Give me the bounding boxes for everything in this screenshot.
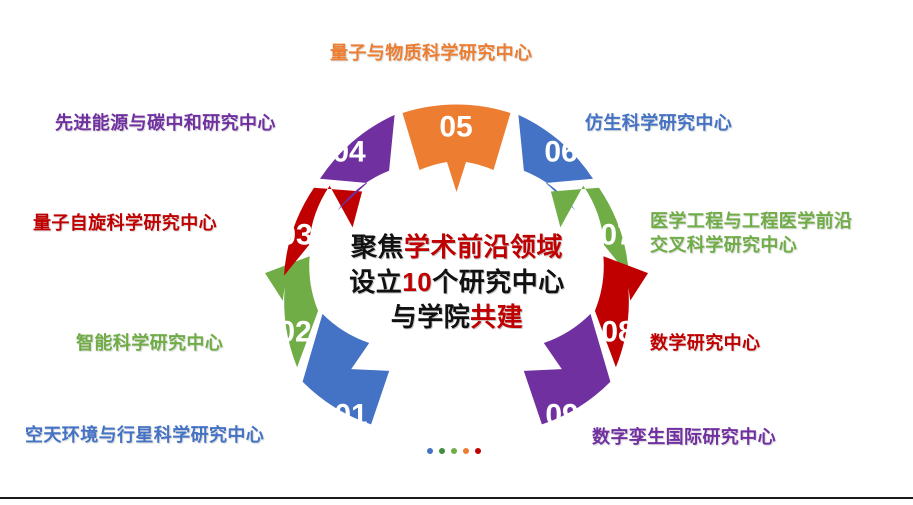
decorative-dot-3 xyxy=(451,448,457,454)
ring-segment-05[interactable]: 05 xyxy=(403,105,511,192)
center-statement-line-2: 设立10个研究中心 xyxy=(302,265,612,300)
center-line3-part-a: 与学院 xyxy=(391,302,471,332)
center-line2-part-c: 个研究中心 xyxy=(432,267,565,297)
label-center-06[interactable]: 仿生科学研究中心 xyxy=(585,112,732,136)
center-line2-part-a: 设立 xyxy=(349,267,402,297)
label-center-02[interactable]: 智能科学研究中心 xyxy=(76,332,223,356)
decorative-dot-5 xyxy=(475,448,481,454)
center-statement: 聚焦学术前沿领域 设立10个研究中心 与学院共建 xyxy=(302,230,612,334)
center-statement-line-3: 与学院共建 xyxy=(302,300,612,335)
bottom-divider xyxy=(0,497,913,499)
decorative-dot-2 xyxy=(439,448,445,454)
ring-segment-04-number: 04 xyxy=(332,136,366,169)
label-center-03[interactable]: 量子自旋科学研究中心 xyxy=(33,212,217,236)
center-line2-count: 10 xyxy=(402,267,432,297)
center-statement-line-1: 聚焦学术前沿领域 xyxy=(302,230,612,265)
decorative-dot-4 xyxy=(463,448,469,454)
ring-segment-01-number: 01 xyxy=(334,399,367,432)
label-center-07-line-2: 交叉科学研究中心 xyxy=(650,234,852,258)
label-center-04[interactable]: 先进能源与碳中和研究中心 xyxy=(55,112,276,136)
ring-segment-06-number: 06 xyxy=(544,136,577,169)
center-line3-part-b: 共建 xyxy=(470,302,523,332)
center-line1-part-b: 学术前沿领域 xyxy=(404,232,563,262)
label-center-07[interactable]: 医学工程与工程医学前沿 交叉科学研究中心 xyxy=(650,210,852,258)
label-center-09[interactable]: 数字孪生国际研究中心 xyxy=(592,426,776,450)
label-center-05[interactable]: 量子与物质科学研究中心 xyxy=(330,42,532,66)
slide-canvas: 01 02 03 04 05 06 07 xyxy=(0,0,913,505)
label-center-08[interactable]: 数学研究中心 xyxy=(650,332,760,356)
label-center-01[interactable]: 空天环境与行星科学研究中心 xyxy=(25,424,264,448)
decorative-dots xyxy=(427,448,481,454)
decorative-dot-1 xyxy=(427,448,433,454)
label-center-07-line-1: 医学工程与工程医学前沿 xyxy=(650,210,852,234)
ring-segment-09-number: 09 xyxy=(545,399,578,432)
center-line1-part-a: 聚焦 xyxy=(351,232,404,262)
ring-segment-05-number: 05 xyxy=(439,111,472,144)
